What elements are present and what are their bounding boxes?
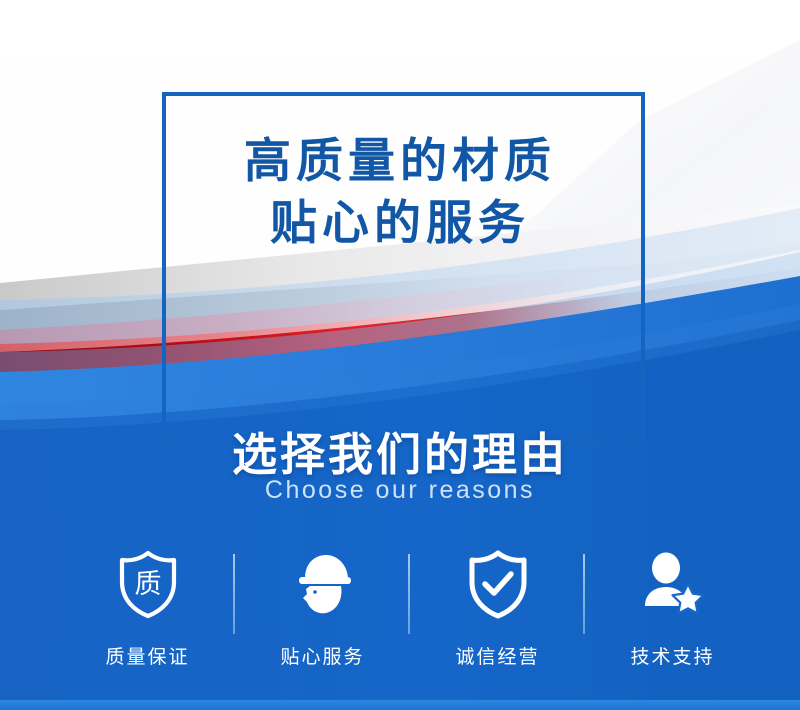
hardhat-worker-icon: [287, 548, 359, 620]
feature-label: 质量保证: [105, 642, 189, 669]
shield-quality-icon: 质: [115, 548, 181, 620]
main-title: 选择我们的理由: [0, 418, 800, 483]
feature-label: 技术支持: [630, 642, 714, 669]
feature-item-integrity[interactable]: 诚信经营: [410, 548, 585, 678]
feature-item-service[interactable]: 贴心服务: [235, 548, 410, 678]
feature-list: 质 质量保证 贴心服务: [60, 548, 760, 678]
subtitle: Choose our reasons: [0, 476, 800, 505]
person-star-icon: [637, 548, 709, 620]
shield-glyph: 质: [134, 569, 161, 599]
bottom-accent-strip: [0, 700, 800, 710]
feature-item-support[interactable]: 技术支持: [585, 548, 760, 678]
feature-label: 诚信经营: [455, 642, 539, 669]
headline-text: 高质量的材质 贴心的服务: [0, 130, 800, 254]
headline-line-2: 贴心的服务: [0, 192, 800, 254]
shield-check-icon: [465, 548, 531, 620]
promo-banner: 高质量的材质 贴心的服务 选择我们的理由 Choose our reasons …: [0, 0, 800, 710]
feature-label: 贴心服务: [280, 642, 364, 669]
feature-item-quality[interactable]: 质 质量保证: [60, 548, 235, 678]
headline-line-1: 高质量的材质: [244, 134, 556, 187]
